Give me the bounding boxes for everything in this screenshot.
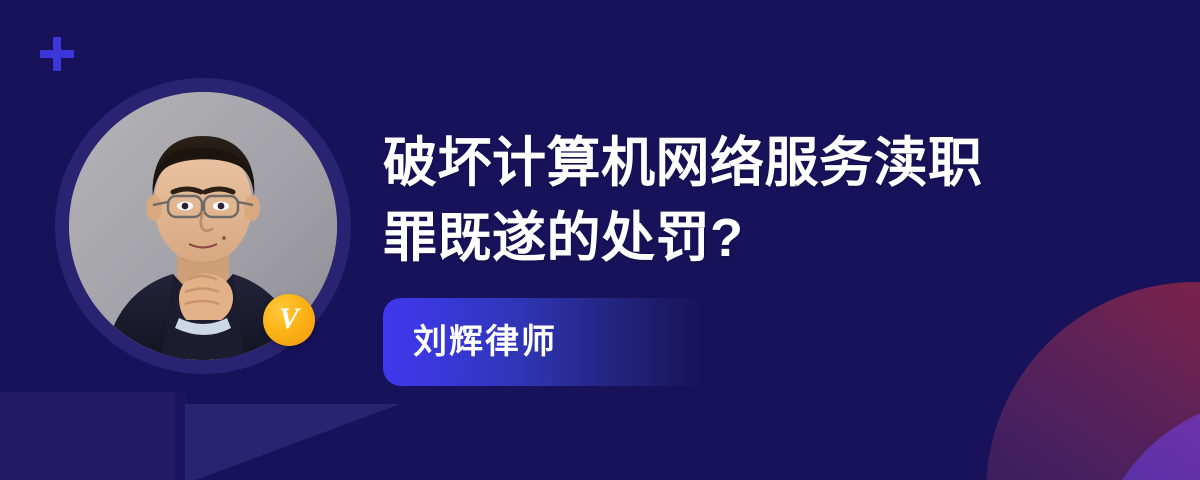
decorative-left-rectangle (0, 392, 175, 480)
verified-v-glyph: V (279, 304, 299, 334)
decorative-vertical-band (175, 392, 187, 480)
lawyer-name-label: 刘辉律师 (383, 325, 557, 359)
plus-icon (40, 37, 74, 71)
decorative-purple-circle (1093, 398, 1200, 480)
verified-v-icon: V (263, 294, 315, 346)
lawyer-name-badge[interactable]: 刘辉律师 (383, 298, 713, 386)
decorative-red-circle (986, 282, 1200, 480)
page-title: 破坏计算机网络服务渎职 罪既遂的处罚? (383, 126, 1123, 276)
decorative-triangle (185, 404, 400, 480)
content-block: 破坏计算机网络服务渎职 罪既遂的处罚? 刘辉律师 (383, 126, 1123, 276)
lawyer-qa-banner: V 破坏计算机网络服务渎职 罪既遂的处罚? 刘辉律师 (0, 0, 1200, 480)
avatar[interactable]: V (55, 78, 351, 374)
